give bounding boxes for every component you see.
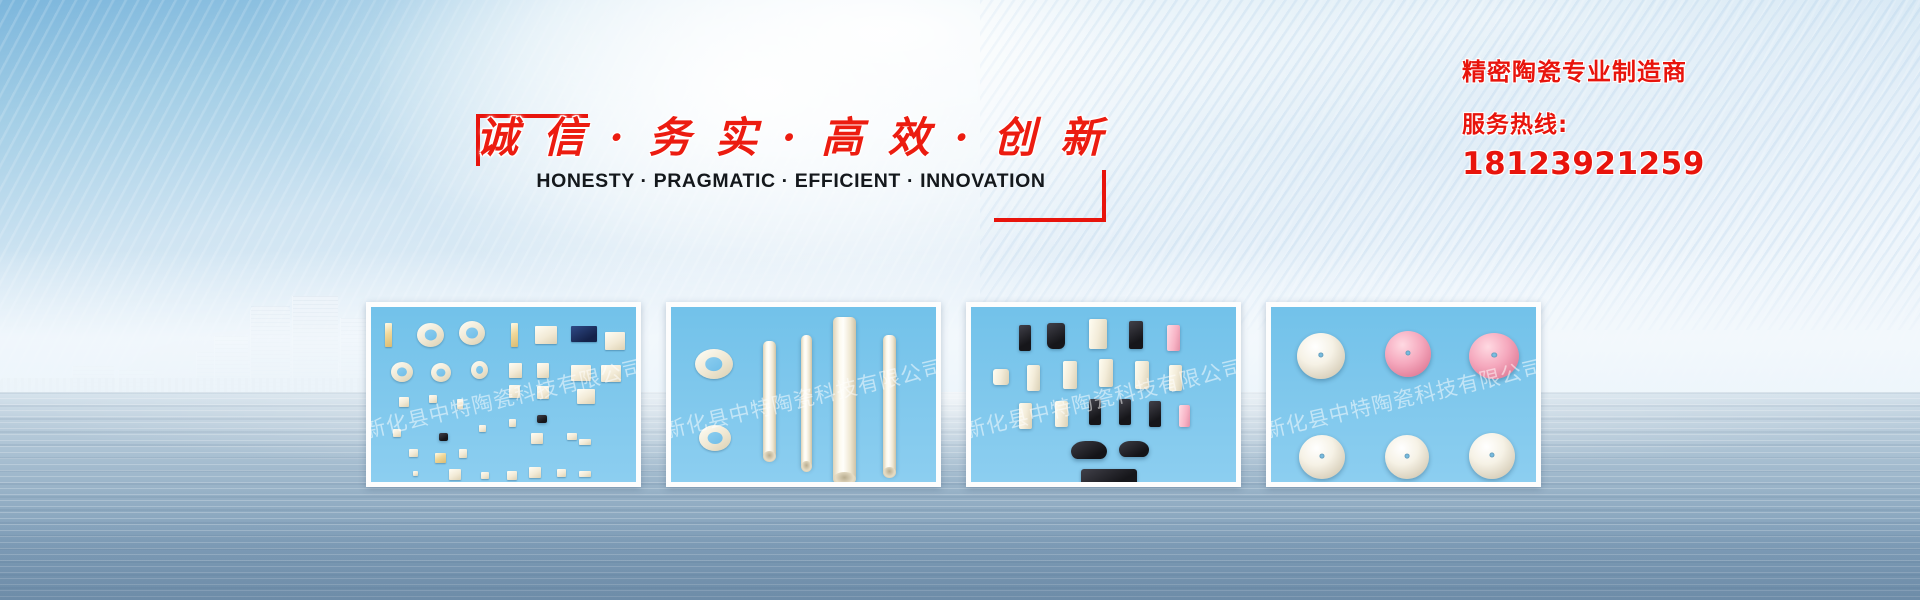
ceramic-part <box>1081 469 1137 482</box>
hotline-number[interactable]: 18123921259 <box>1462 146 1882 182</box>
ceramic-disc <box>1469 333 1519 379</box>
ceramic-part <box>531 433 543 444</box>
ceramic-part <box>1129 321 1143 349</box>
ceramic-part <box>1179 405 1190 427</box>
ceramic-part <box>1055 401 1068 427</box>
ceramic-part <box>509 363 522 378</box>
ceramic-part <box>579 439 591 445</box>
tube-end-cap <box>801 461 812 472</box>
ceramic-part <box>537 386 549 399</box>
ceramic-part <box>417 323 444 347</box>
ceramic-disc <box>1297 333 1345 379</box>
ceramic-disc <box>1385 331 1431 377</box>
ceramic-part <box>537 363 549 378</box>
company-tagline: 精密陶瓷专业制造商 <box>1462 52 1882 87</box>
ceramic-part <box>605 332 625 350</box>
product-panel-ceramic-blocks[interactable]: 新化县中特陶瓷科技有限公司 <box>966 302 1241 487</box>
ceramic-part <box>535 326 557 344</box>
ceramic-tube <box>833 317 856 482</box>
ceramic-part <box>557 469 566 477</box>
ceramic-disc <box>1385 435 1429 479</box>
ceramic-part <box>1089 399 1101 425</box>
ceramic-part <box>409 449 418 457</box>
ceramic-part <box>507 471 517 480</box>
ceramic-part <box>391 362 413 382</box>
ceramic-disc <box>1469 433 1515 479</box>
ceramic-part <box>431 363 451 382</box>
ceramic-part <box>449 469 461 480</box>
ceramic-tube <box>763 341 776 459</box>
ceramic-part <box>511 323 518 347</box>
ceramic-part <box>457 399 463 409</box>
ceramic-disc <box>1299 435 1345 479</box>
ceramic-part <box>1089 319 1107 349</box>
ceramic-tube <box>801 335 812 469</box>
ceramic-part <box>1027 365 1040 391</box>
ceramic-part <box>429 395 437 403</box>
ceramic-ring <box>695 349 733 379</box>
tube-end-cap <box>763 451 776 462</box>
ceramic-part <box>1149 401 1161 427</box>
ceramic-part <box>1019 325 1031 351</box>
ceramic-part <box>459 321 485 345</box>
water-shadow <box>0 520 1920 600</box>
ceramic-part <box>1063 361 1077 389</box>
ceramic-part <box>509 419 516 427</box>
ceramic-part <box>471 361 488 379</box>
ceramic-part <box>571 365 591 381</box>
ceramic-part <box>601 365 621 382</box>
panel-image-smd-components: 新化县中特陶瓷科技有限公司 <box>371 307 636 482</box>
panel-image-ceramic-tubes: 新化县中特陶瓷科技有限公司 <box>671 307 936 482</box>
promo-banner: 诚 信 · 务 实 · 高 效 · 创 新 HONESTY · PRAGMATI… <box>0 0 1920 600</box>
ceramic-part <box>1019 403 1032 429</box>
ceramic-part <box>571 326 597 342</box>
ceramic-part <box>577 389 595 404</box>
ceramic-arc-magnet <box>1071 441 1107 459</box>
ceramic-part <box>481 472 489 479</box>
ceramic-arc-magnet <box>1119 441 1149 457</box>
product-panel-ceramic-tubes[interactable]: 新化县中特陶瓷科技有限公司 <box>666 302 941 487</box>
ceramic-part <box>579 471 591 477</box>
ceramic-part <box>479 425 486 432</box>
ceramic-part <box>509 385 520 398</box>
ceramic-part <box>385 323 392 347</box>
tube-end-cap <box>833 472 856 482</box>
ceramic-part <box>1135 361 1149 389</box>
contact-block: 精密陶瓷专业制造商 服务热线: 18123921259 <box>1462 52 1882 182</box>
ceramic-part <box>459 449 467 458</box>
panel-image-ceramic-discs: 新化县中特陶瓷科技有限公司 <box>1271 307 1536 482</box>
ceramic-part <box>435 453 446 463</box>
ceramic-part <box>1169 365 1182 391</box>
hotline-label: 服务热线: <box>1462 105 1882 139</box>
ceramic-part <box>1099 359 1113 387</box>
ceramic-part <box>393 429 401 437</box>
ceramic-part <box>537 415 547 423</box>
ceramic-part <box>399 397 409 407</box>
ceramic-part <box>993 369 1009 385</box>
ceramic-part <box>1167 325 1180 351</box>
product-panel-row: 新化县中特陶瓷科技有限公司 新化县中特陶瓷科技有限公 <box>366 302 1541 487</box>
product-panel-ceramic-discs[interactable]: 新化县中特陶瓷科技有限公司 <box>1266 302 1541 487</box>
slogan-block: 诚 信 · 务 实 · 高 效 · 创 新 HONESTY · PRAGMATI… <box>476 106 1106 206</box>
panel-image-ceramic-blocks: 新化县中特陶瓷科技有限公司 <box>971 307 1236 482</box>
slogan-chinese: 诚 信 · 务 实 · 高 效 · 创 新 <box>476 104 1106 165</box>
slogan-english: HONESTY · PRAGMATIC · EFFICIENT · INNOVA… <box>476 170 1106 193</box>
ceramic-ring <box>699 425 731 451</box>
ceramic-part <box>1047 323 1065 349</box>
tube-end-cap <box>883 467 896 478</box>
ceramic-part <box>529 467 541 478</box>
ceramic-part <box>567 433 577 440</box>
ceramic-tube <box>883 335 896 475</box>
ceramic-part <box>439 433 448 441</box>
product-panel-smd-components[interactable]: 新化县中特陶瓷科技有限公司 <box>366 302 641 487</box>
ceramic-part <box>413 471 418 476</box>
ceramic-part <box>1119 399 1131 425</box>
